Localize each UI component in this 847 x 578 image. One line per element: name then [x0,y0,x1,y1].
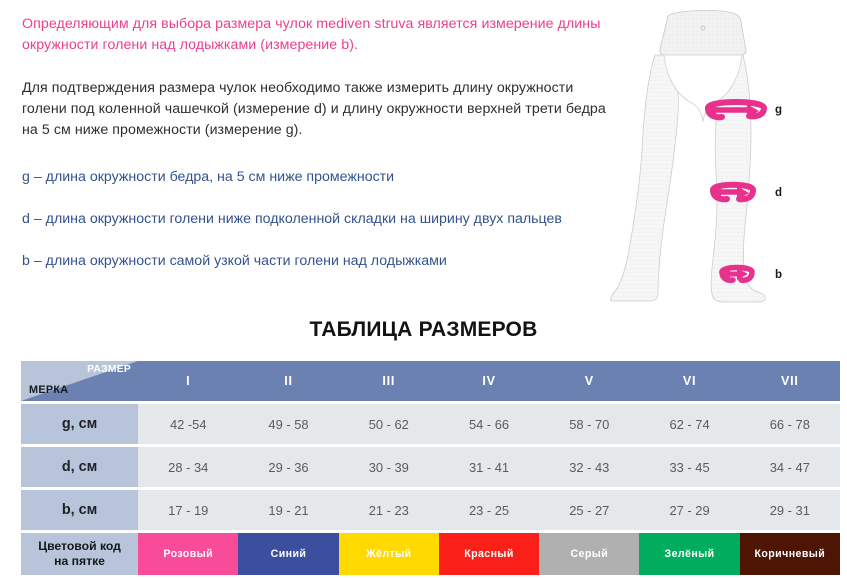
value-cell: 29 - 31 [740,490,840,530]
value-cell: 31 - 41 [439,447,539,487]
value-cell: 21 - 23 [339,490,439,530]
value-cell: 23 - 25 [439,490,539,530]
measure-label-g: g [775,104,782,116]
measure-label-b: b [775,269,782,281]
color-swatch-cell-4: Красный [439,533,539,575]
size-header-4: IV [439,361,539,401]
corner-measure-label: МЕРКА [29,384,68,396]
torso-shape [660,10,746,55]
leg-measurement-illustration: g d b [604,2,847,310]
color-swatch-cell-5: Серый [539,533,639,575]
value-cell: 34 - 47 [740,447,840,487]
table-row: g, см 42 -54 49 - 58 50 - 62 54 - 66 58 … [21,404,840,444]
paragraph-confirmation: Для подтверждения размера чулок необходи… [22,78,612,141]
legend-line-d: d – длина окружности голени ниже подколе… [22,209,612,230]
legend-line-b: b – длина окружности самой узкой части г… [22,251,612,272]
size-header-5: V [539,361,639,401]
value-cell: 28 - 34 [138,447,238,487]
value-cell: 29 - 36 [238,447,338,487]
color-code-label-cell: Цветовой код на пятке [21,533,138,575]
measure-label-d: d [775,187,782,199]
value-cell: 50 - 62 [339,404,439,444]
value-cell: 49 - 58 [238,404,338,444]
size-table: РАЗМЕР МЕРКА I II III IV V VI VII g, см … [21,358,840,578]
color-swatch-cell-6: Зелёный [639,533,739,575]
color-swatch-cell-1: Розовый [138,533,238,575]
size-header-7: VII [740,361,840,401]
measure-label-cell: d, см [21,447,138,487]
value-cell: 54 - 66 [439,404,539,444]
size-header-2: II [238,361,338,401]
table-row: d, см 28 - 34 29 - 36 30 - 39 31 - 41 32… [21,447,840,487]
value-cell: 30 - 39 [339,447,439,487]
value-cell: 17 - 19 [138,490,238,530]
color-swatch-cell-7: Коричневый [740,533,840,575]
description-text-column: Определяющим для выбора размера чулок me… [22,14,612,272]
size-header-3: III [339,361,439,401]
color-swatch-cell-2: Синий [238,533,338,575]
value-cell: 25 - 27 [539,490,639,530]
value-cell: 66 - 78 [740,404,840,444]
value-cell: 58 - 70 [539,404,639,444]
paragraph-intro: Определяющим для выбора размера чулок me… [22,14,612,56]
value-cell: 42 -54 [138,404,238,444]
table-row: b, см 17 - 19 19 - 21 21 - 23 23 - 25 25… [21,490,840,530]
measure-label-cell: g, см [21,404,138,444]
body-outline-svg: g d b [604,2,847,310]
color-code-label-line1: Цветовой код [38,539,121,553]
value-cell: 19 - 21 [238,490,338,530]
color-code-row: Цветовой код на пятке Розовый Синий Жёлт… [21,533,840,575]
corner-header-cell: РАЗМЕР МЕРКА [21,361,138,401]
legend-line-g: g – длина окружности бедра, на 5 см ниже… [22,167,612,188]
value-cell: 27 - 29 [639,490,739,530]
size-header-1: I [138,361,238,401]
corner-size-label: РАЗМЕР [87,364,131,375]
size-header-6: VI [639,361,739,401]
table-header-row: РАЗМЕР МЕРКА I II III IV V VI VII [21,361,840,401]
left-leg-shape [611,55,679,301]
page-title: ТАБЛИЦА РАЗМЕРОВ [0,318,847,342]
value-cell: 62 - 74 [639,404,739,444]
color-swatch-cell-3: Жёлтый [339,533,439,575]
value-cell: 33 - 45 [639,447,739,487]
measure-label-cell: b, см [21,490,138,530]
color-code-label-line2: на пятке [54,554,105,568]
value-cell: 32 - 43 [539,447,639,487]
